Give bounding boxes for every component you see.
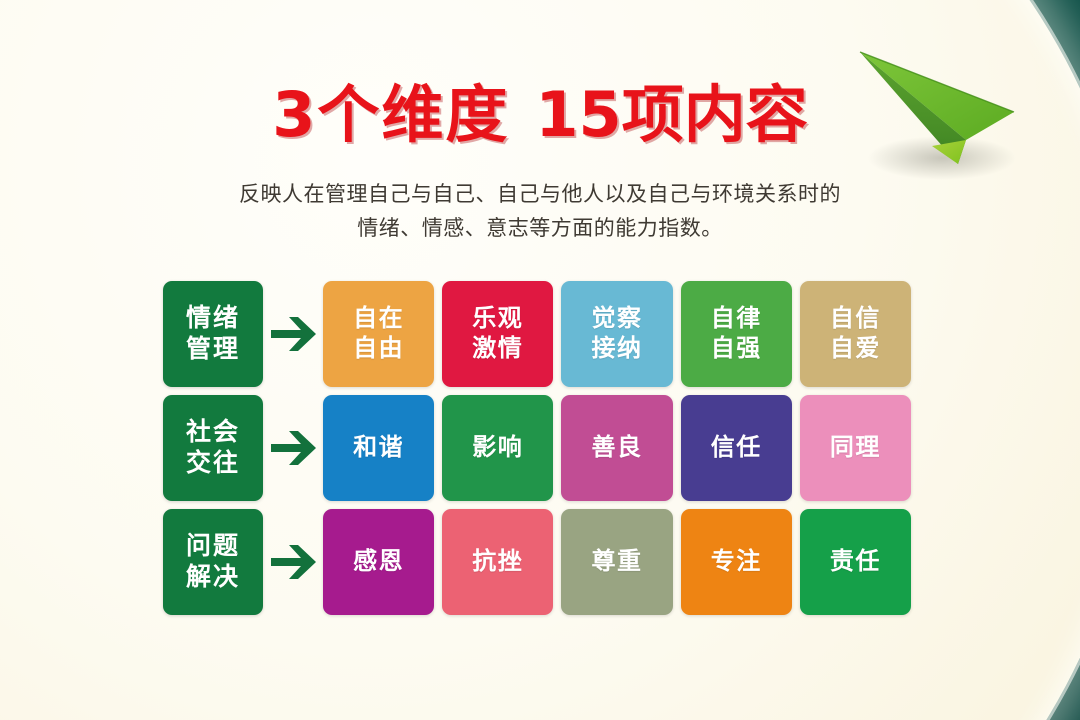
dimension-row: 问题 解决 感恩 抗挫 尊重 bbox=[163, 509, 911, 615]
arrow-cell bbox=[263, 509, 323, 615]
dimension-label-emotion-management[interactable]: 情绪 管理 bbox=[163, 281, 263, 387]
card-line-1: 同理 bbox=[830, 433, 881, 463]
card-line-1: 善良 bbox=[592, 433, 643, 463]
card-tongli[interactable]: 同理 bbox=[800, 395, 911, 501]
card-line-1: 乐观 bbox=[472, 304, 523, 334]
dimensions-grid: 情绪 管理 自在 自由 乐观 激情 bbox=[163, 281, 911, 615]
card-line-2: 自爱 bbox=[830, 334, 881, 364]
card-line-1: 抗挫 bbox=[472, 547, 523, 577]
card-leguan[interactable]: 乐观 激情 bbox=[442, 281, 553, 387]
page-subtitle: 反映人在管理自己与自己、自己与他人以及自己与环境关系时的 情绪、情感、意志等方面… bbox=[0, 178, 1080, 246]
dimension-label-social-interaction[interactable]: 社会 交往 bbox=[163, 395, 263, 501]
card-zhuanzhu[interactable]: 专注 bbox=[681, 509, 792, 615]
card-kangcuo[interactable]: 抗挫 bbox=[442, 509, 553, 615]
card-line-1: 觉察 bbox=[592, 304, 643, 334]
dimension-label-line-1: 问题 bbox=[186, 531, 240, 562]
dimension-row: 情绪 管理 自在 自由 乐观 激情 bbox=[163, 281, 911, 387]
arrow-cell bbox=[263, 395, 323, 501]
dimension-label-line-1: 社会 bbox=[186, 417, 240, 448]
card-shanliang[interactable]: 善良 bbox=[561, 395, 672, 501]
card-line-1: 信任 bbox=[711, 433, 762, 463]
card-line-1: 自律 bbox=[711, 304, 762, 334]
dimension-label-line-2: 解决 bbox=[186, 562, 240, 593]
title-sub: 15项内容 bbox=[535, 78, 807, 151]
card-zilv[interactable]: 自律 自强 bbox=[681, 281, 792, 387]
card-line-1: 专注 bbox=[711, 547, 762, 577]
card-line-2: 激情 bbox=[472, 334, 523, 364]
poster-root: 3个维度15项内容 反映人在管理自己与自己、自己与他人以及自己与环境关系时的 情… bbox=[0, 0, 1080, 720]
dimension-row: 社会 交往 和谐 影响 善良 bbox=[163, 395, 911, 501]
title-main: 3个维度 bbox=[272, 78, 509, 151]
dimension-label-problem-solving[interactable]: 问题 解决 bbox=[163, 509, 263, 615]
subtitle-line-1: 反映人在管理自己与自己、自己与他人以及自己与环境关系时的 bbox=[0, 178, 1080, 212]
card-line-2: 接纳 bbox=[592, 334, 643, 364]
card-line-1: 自在 bbox=[353, 304, 404, 334]
card-line-2: 自由 bbox=[353, 334, 404, 364]
card-line-2: 自强 bbox=[711, 334, 762, 364]
cards-group: 和谐 影响 善良 信任 同理 bbox=[323, 395, 911, 501]
card-juecha[interactable]: 觉察 接纳 bbox=[561, 281, 672, 387]
page-title: 3个维度15项内容 bbox=[0, 84, 1080, 146]
card-line-1: 感恩 bbox=[353, 547, 404, 577]
card-line-1: 自信 bbox=[830, 304, 881, 334]
cards-group: 自在 自由 乐观 激情 觉察 接纳 自律 自强 bbox=[323, 281, 911, 387]
arrow-cell bbox=[263, 281, 323, 387]
cards-group: 感恩 抗挫 尊重 专注 责任 bbox=[323, 509, 911, 615]
card-line-1: 影响 bbox=[472, 433, 523, 463]
card-hexie[interactable]: 和谐 bbox=[323, 395, 434, 501]
card-yingxiang[interactable]: 影响 bbox=[442, 395, 553, 501]
subtitle-line-2: 情绪、情感、意志等方面的能力指数。 bbox=[0, 212, 1080, 246]
card-zeren[interactable]: 责任 bbox=[800, 509, 911, 615]
poster-content: 3个维度15项内容 反映人在管理自己与自己、自己与他人以及自己与环境关系时的 情… bbox=[0, 0, 1080, 720]
card-zixin[interactable]: 自信 自爱 bbox=[800, 281, 911, 387]
arrow-right-icon bbox=[267, 540, 319, 584]
card-ziyou[interactable]: 自在 自由 bbox=[323, 281, 434, 387]
card-line-1: 尊重 bbox=[592, 547, 643, 577]
arrow-right-icon bbox=[267, 426, 319, 470]
dimension-label-line-1: 情绪 bbox=[186, 303, 240, 334]
card-ganen[interactable]: 感恩 bbox=[323, 509, 434, 615]
dimension-label-line-2: 交往 bbox=[186, 448, 240, 479]
card-line-1: 和谐 bbox=[353, 433, 404, 463]
card-zunzhong[interactable]: 尊重 bbox=[561, 509, 672, 615]
card-line-1: 责任 bbox=[830, 547, 881, 577]
dimension-label-line-2: 管理 bbox=[186, 334, 240, 365]
arrow-right-icon bbox=[267, 312, 319, 356]
card-xinren[interactable]: 信任 bbox=[681, 395, 792, 501]
